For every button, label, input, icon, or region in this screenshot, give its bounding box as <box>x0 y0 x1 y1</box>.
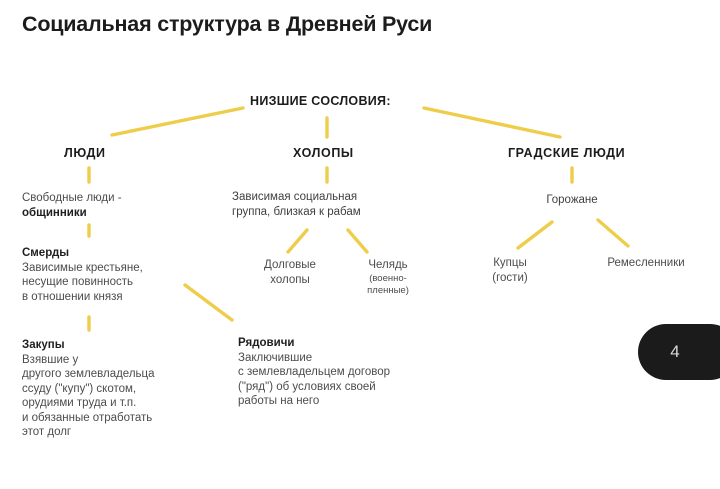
left-item-free-people-text: Свободные люди -общинники <box>22 191 237 220</box>
connector-root-left <box>112 108 243 135</box>
middle-extra-ryadovichi: Рядовичи Заключившие с землевладельцем д… <box>238 336 463 409</box>
connector-middle-child-1 <box>288 230 307 252</box>
middle-child-chelyad-note: (военно- пленные) <box>340 273 436 297</box>
root-node-label: НИЗШИЕ СОСЛОВИЯ: <box>250 94 391 108</box>
left-item-free-people: Свободные люди -общинники <box>22 191 237 220</box>
right-child-remeslenniki: Ремесленники <box>586 256 706 271</box>
middle-extra-ryadovichi-desc: Заключившие с землевладельцем договор ("… <box>238 351 463 409</box>
branch-label-gradskie-lyudi: ГРАДСКИЕ ЛЮДИ <box>508 146 625 160</box>
left-item-smerdy: Смерды Зависимые крестьяне, несущие пови… <box>22 246 237 304</box>
slide-canvas: Социальная структура в Древней Руси <box>0 0 720 489</box>
left-item-zakupy-desc: Взявшие у другого землевладельца ссуду (… <box>22 353 237 440</box>
branch-label-kholopy: ХОЛОПЫ <box>293 146 354 160</box>
left-item-smerdy-term: Смерды <box>22 246 237 261</box>
middle-child-chelyad: Челядь (военно- пленные) <box>340 258 436 297</box>
left-item-free-people-plain: Свободные люди - <box>22 192 122 204</box>
connector-middle-child-2 <box>348 230 367 252</box>
middle-child-dolgovye-kholopy: Долговые холопы <box>244 258 336 287</box>
connector-root-right <box>424 108 560 137</box>
connector-right-child-1 <box>518 222 552 248</box>
right-child-kuptsy: Купцы (гости) <box>470 256 550 285</box>
page-indicator-number: 4 <box>670 342 679 362</box>
page-indicator: 4 <box>638 324 720 380</box>
left-item-zakupy: Закупы Взявшие у другого землевладельца … <box>22 338 237 440</box>
middle-extra-ryadovichi-term: Рядовичи <box>238 336 463 351</box>
left-item-smerdy-desc: Зависимые крестьяне, несущие повинность … <box>22 261 237 305</box>
branch-label-lyudi: ЛЮДИ <box>64 146 106 160</box>
connector-right-child-2 <box>598 220 628 246</box>
middle-child-chelyad-label: Челядь <box>340 258 436 273</box>
middle-definition: Зависимая социальная группа, близкая к р… <box>232 190 424 219</box>
right-definition: Горожане <box>512 193 632 208</box>
left-item-zakupy-term: Закупы <box>22 338 237 353</box>
left-item-free-people-bold: общинники <box>22 207 87 219</box>
page-title: Социальная структура в Древней Руси <box>22 12 432 37</box>
